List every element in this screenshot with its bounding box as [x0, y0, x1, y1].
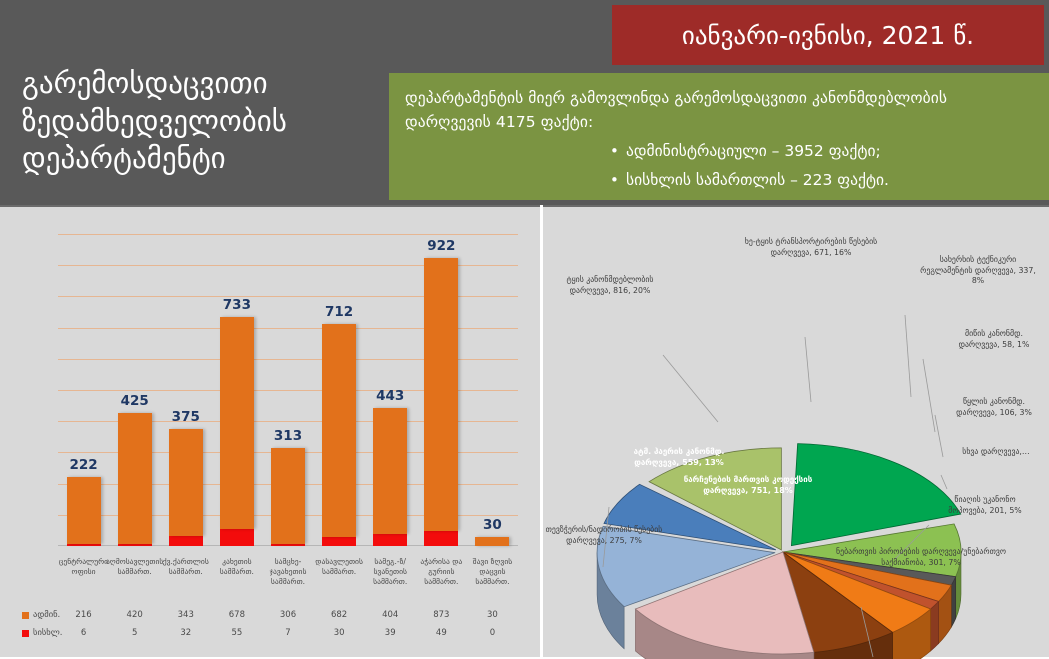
legend-value-cell: 7: [259, 628, 317, 638]
bar-segment-criminal[interactable]: [271, 544, 305, 546]
category-label-row: ცენტრალური ოფისიაღმოსავლეთის სამმართ.ქვ.…: [58, 553, 518, 599]
legend-value-cell: 216: [55, 610, 113, 620]
bar-column[interactable]: [373, 408, 407, 546]
bar-segment-criminal[interactable]: [169, 536, 203, 546]
pie-callout-label: ნებართვის პირობების დარღვევა/უნებართვო ს…: [831, 547, 1011, 568]
bar-value-label: 712: [309, 304, 369, 320]
legend-value-cell: 6: [55, 628, 113, 638]
bar-column[interactable]: [67, 477, 101, 546]
summary-bullet-2-text: სისხლის სამართლის – 223 ფაქტი.: [626, 169, 889, 192]
bar-plot-area: 22242537573331371244392230: [58, 234, 518, 546]
legend-value-cell: 682: [310, 610, 368, 620]
legend-value-cell: 873: [412, 610, 470, 620]
bar-segment-admin[interactable]: [424, 258, 458, 530]
pie-leader-line: [663, 355, 718, 422]
bar-category-label: დასავლეთის სამმართ.: [310, 557, 368, 577]
legend-value-cell: 678: [208, 610, 266, 620]
legend-value-cell: 30: [310, 628, 368, 638]
bar-value-label: 443: [360, 388, 420, 404]
bar-column[interactable]: [169, 429, 203, 546]
bar-value-label: 30: [462, 517, 522, 533]
legend-value-cell: 30: [463, 610, 521, 620]
bar-segment-admin[interactable]: [373, 408, 407, 534]
bar-segment-admin[interactable]: [67, 477, 101, 544]
bar-value-label: 922: [411, 238, 471, 254]
pie-leader-line: [805, 337, 811, 402]
legend-value-cell: 420: [106, 610, 164, 620]
pie-callout-label: ტყის კანონმდებლობის დარღვევა, 816, 20%: [545, 275, 675, 296]
summary-bullet-2: • სისხლის სამართლის – 223 ფაქტი.: [405, 169, 1033, 192]
bar-segment-criminal[interactable]: [118, 544, 152, 546]
legend-row-admin: ადმინ.21642034367830668240487330: [0, 605, 540, 625]
pie-callout-label: თევზჭერის/ნადირობის წესების დარღვევა, 27…: [545, 525, 663, 546]
bar-category-label: შავი ზღვის დაცვის სამმართ.: [463, 557, 521, 587]
pie-callout-label: სხვა დარღვევა,…: [951, 447, 1041, 458]
summary-lead-text: დეპარტამენტის მიერ გამოვლინდა გარემოსდაც…: [405, 87, 1033, 134]
bar-value-label: 425: [105, 393, 165, 409]
bar-segment-admin[interactable]: [169, 429, 203, 536]
bar-category-label: აჭარისა და გურიის სამმართ.: [412, 557, 470, 587]
pie-chart-panel: ტყის კანონმდებლობის დარღვევა, 816, 20%ხე…: [543, 205, 1049, 657]
legend-swatch-icon: [22, 630, 29, 637]
legend-value-cell: 404: [361, 610, 419, 620]
bar-value-label: 733: [207, 297, 267, 313]
bar-segment-criminal[interactable]: [424, 531, 458, 546]
bar-segment-criminal[interactable]: [67, 544, 101, 546]
legend-value-cell: 32: [157, 628, 215, 638]
pie-leader-line: [935, 415, 943, 457]
legend-swatch-icon: [22, 612, 29, 619]
bar-segment-admin[interactable]: [220, 317, 254, 529]
pie-slice-side: [931, 601, 939, 651]
period-badge: იანვარი-ივნისი, 2021 წ.: [612, 5, 1044, 65]
bar-category-label: სამეგ.-ზ/სვანეთის სამმართ.: [361, 557, 419, 587]
department-title: გარემოსდაცვითი ზედამხედველობის დეპარტამე…: [22, 65, 372, 178]
bar-column[interactable]: [220, 317, 254, 546]
pie-inside-label: ნარჩენების მართვის კოდექსის დარღვევა, 75…: [673, 475, 823, 497]
bar-value-label: 222: [54, 457, 114, 473]
bar-column[interactable]: [424, 258, 458, 546]
legend-value-cell: 306: [259, 610, 317, 620]
bar-column[interactable]: [271, 448, 305, 546]
bar-column[interactable]: [118, 413, 152, 546]
bullet-dot-icon: •: [610, 169, 626, 192]
summary-box: დეპარტამენტის მიერ გამოვლინდა გარემოსდაც…: [389, 73, 1049, 200]
bar-category-label: სამცხე-ჯავახეთის სამმართ.: [259, 557, 317, 587]
bar-category-label: ქვ.ქართლის სამმართ.: [157, 557, 215, 577]
legend-value-cell: 55: [208, 628, 266, 638]
pie-callout-label: ხე-ტყის ტრანსპორტირების წესების დარღვევა…: [741, 237, 881, 258]
pie-leader-line: [923, 359, 935, 432]
summary-bullet-1: • ადმინისტრაციული – 3952 ფაქტი;: [405, 140, 1033, 163]
legend-value-cell: 0: [463, 628, 521, 638]
legend-value-cell: 39: [361, 628, 419, 638]
bar-segment-admin[interactable]: [118, 413, 152, 544]
bullet-dot-icon: •: [610, 140, 626, 163]
legend-value-cell: 49: [412, 628, 470, 638]
bar-column[interactable]: [475, 537, 509, 546]
bar-category-label: ცენტრალური ოფისი: [55, 557, 113, 577]
pie-leader-line: [941, 475, 947, 489]
bar-value-label: 313: [258, 428, 318, 444]
pie-leader-line: [905, 315, 911, 397]
pie-callout-label: წყლის კანონმდ. დარღვევა, 106, 3%: [945, 397, 1043, 418]
bar-segment-criminal[interactable]: [322, 537, 356, 546]
legend-row-criminal: სისხლ.65325573039490: [0, 623, 540, 643]
legend-value-cell: 5: [106, 628, 164, 638]
bar-value-label: 375: [156, 409, 216, 425]
bar-column[interactable]: [322, 324, 356, 546]
bar-chart-panel: 22242537573331371244392230 ცენტრალური ოფ…: [0, 205, 540, 657]
summary-bullet-1-text: ადმინისტრაციული – 3952 ფაქტი;: [626, 140, 881, 163]
gridline: [58, 234, 518, 235]
bar-category-label: აღმოსავლეთის სამმართ.: [106, 557, 164, 577]
top-banner: გარემოსდაცვითი ზედამხედველობის დეპარტამე…: [0, 0, 1049, 205]
bar-category-label: კახეთის სამმართ.: [208, 557, 266, 577]
legend-value-cell: 343: [157, 610, 215, 620]
bar-segment-criminal[interactable]: [220, 529, 254, 546]
bar-segment-admin[interactable]: [475, 537, 509, 546]
bar-segment-criminal[interactable]: [373, 534, 407, 546]
bar-segment-admin[interactable]: [322, 324, 356, 537]
pie-callout-label: წიაღის უკანონო მოპოვება, 201, 5%: [943, 495, 1027, 516]
pie-callout-label: სახერხის ტექნიკური რეგლამენტის დარღვევა,…: [913, 255, 1043, 287]
bar-segment-admin[interactable]: [271, 448, 305, 543]
pie-callout-label: მიწის კანონმდ. დარღვევა, 58, 1%: [945, 329, 1043, 350]
pie-inside-label: ატმ. ჰაერის კანონმდ. დარღვევა, 559, 13%: [615, 447, 743, 469]
